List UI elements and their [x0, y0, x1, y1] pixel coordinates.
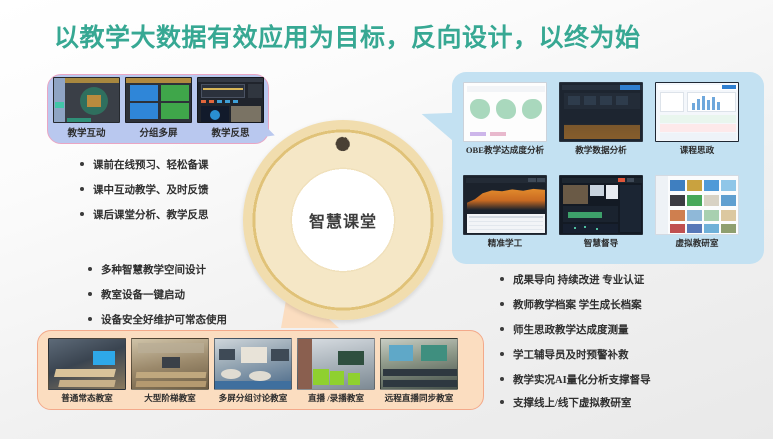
thumb-tile[interactable]: 教学数据分析 [559, 82, 643, 156]
thumb-tile[interactable]: OBE教学达成度分析 [463, 82, 547, 156]
classroom-photo [214, 338, 292, 390]
bullet-dot [80, 212, 84, 216]
thumb-caption: 精准学工 [488, 237, 522, 249]
bullet-text: 设备安全好维护可常态使用 [101, 312, 227, 327]
list-item: 课中互动教学、及时反馈 [80, 182, 209, 197]
thumb-tile[interactable]: 远程直播同步教室 [380, 338, 458, 404]
bullet-text: 学工辅导员及时预警补救 [513, 347, 629, 362]
list-item: 教学实况AI量化分析支撑督导 [500, 372, 651, 387]
thumb-caption: 智慧督导 [584, 237, 618, 249]
thumb-caption: 大型阶梯教室 [144, 392, 196, 404]
bullet-text: 支撑线上/线下虚拟教研室 [513, 395, 631, 410]
light-dashboard-screenshot [655, 82, 739, 142]
thumb-caption: 远程直播同步教室 [385, 392, 454, 404]
list-item: 课前在线预习、轻松备课 [80, 157, 209, 172]
classroom-photo [131, 338, 209, 390]
thumb-tile[interactable]: 大型阶梯教室 [131, 338, 209, 404]
thumb-tile[interactable]: 多屏分组讨论教室 [214, 338, 292, 404]
list-item: 课后课堂分析、教学反思 [80, 207, 209, 222]
bullet-dot [500, 377, 504, 381]
list-item: 设备安全好维护可常态使用 [88, 312, 227, 327]
bullet-text: 课后课堂分析、教学反思 [93, 207, 209, 222]
thumb-tile[interactable]: 分组多屏 [125, 77, 192, 139]
bullet-dot [500, 277, 504, 281]
thumb-tile[interactable]: 智慧督导 [559, 175, 643, 249]
supervision-screenshot [559, 175, 643, 235]
list-item: 教师教学档案 学生成长档案 [500, 297, 651, 312]
thumb-caption: 分组多屏 [139, 125, 177, 139]
bullet-text: 教室设备一键启动 [101, 287, 185, 302]
page-title: 以教学大数据有效应用为目标，反向设计，以终为始 [54, 18, 641, 54]
thumb-tile[interactable]: 课程思政 [655, 82, 739, 156]
bullet-dot [80, 187, 84, 191]
bullet-dot [500, 302, 504, 306]
bullet-dot [80, 162, 84, 166]
thumb-caption: 教学互动 [67, 125, 105, 139]
classroom-photo [380, 338, 458, 390]
bullet-text: 师生思政教学达成度测量 [513, 322, 629, 337]
thumb-tile[interactable]: 普通常态教室 [48, 338, 126, 404]
bullet-dot [88, 292, 92, 296]
dark-analytics-screenshot [559, 82, 643, 142]
reflection-dashboard-screenshot [197, 77, 264, 123]
bullet-dot [88, 267, 92, 271]
list-item: 支撑线上/线下虚拟教研室 [500, 395, 651, 410]
thumb-caption: 虚拟教研室 [676, 237, 719, 249]
thumb-caption: 直播 /录播教室 [308, 392, 364, 404]
bullet-dot [500, 400, 504, 404]
bullet-text: 课中互动教学、及时反馈 [93, 182, 209, 197]
bullet-dot [500, 327, 504, 331]
donut-core-label: 智慧课堂 [243, 208, 443, 232]
list-item: 师生思政教学达成度测量 [500, 322, 651, 337]
bullet-text: 教学实况AI量化分析支撑督导 [513, 372, 651, 387]
application-thumbnail-row-2: 精准学工 智慧督导 [463, 175, 739, 249]
interaction-bullet-list: 课前在线预习、轻松备课 课中互动教学、及时反馈 课后课堂分析、教学反思 [80, 157, 209, 232]
bullet-text: 成果导向 持续改进 专业认证 [513, 272, 644, 287]
thumb-tile[interactable]: 精准学工 [463, 175, 547, 249]
classroom-photo [48, 338, 126, 390]
mindmap-screenshot [53, 77, 120, 123]
space-bullet-list: 多种智慧教学空间设计 教室设备一键启动 设备安全好维护可常态使用 [88, 262, 227, 337]
bullet-text: 多种智慧教学空间设计 [101, 262, 206, 277]
center-donut-diagram: 智慧课堂 教学互动行为数据 教学数据深度应用 教学空间环境数据 [243, 120, 443, 320]
thumb-tile[interactable]: 直播 /录播教室 [297, 338, 375, 404]
list-item: 学工辅导员及时预警补救 [500, 347, 651, 362]
bullet-text: 课前在线预习、轻松备课 [93, 157, 209, 172]
thumb-tile[interactable]: 虚拟教研室 [655, 175, 739, 249]
application-thumbnail-row-1: OBE教学达成度分析 教学数据分析 [463, 82, 739, 156]
classroom-photo [297, 338, 375, 390]
radar-report-screenshot [463, 82, 547, 142]
list-item: 教室设备一键启动 [88, 287, 227, 302]
space-thumbnail-row: 普通常态教室 大型阶梯教室 多屏分组讨论教室 [48, 338, 458, 404]
thumb-caption: 课程思政 [680, 144, 714, 156]
thumb-caption: 多屏分组讨论教室 [219, 392, 288, 404]
thumb-tile[interactable]: 教学互动 [53, 77, 120, 139]
list-item: 多种智慧教学空间设计 [88, 262, 227, 277]
thumb-caption: 普通常态教室 [61, 392, 113, 404]
thumb-caption: 教学数据分析 [575, 144, 627, 156]
thumb-caption: OBE教学达成度分析 [466, 144, 544, 156]
bullet-dot [500, 352, 504, 356]
interaction-thumbnail-row: 教学互动 分组多屏 [53, 77, 264, 139]
area-chart-screenshot [463, 175, 547, 235]
list-item: 成果导向 持续改进 专业认证 [500, 272, 651, 287]
slide-canvas: 以教学大数据有效应用为目标，反向设计，以终为始 教学互动 [0, 0, 773, 439]
video-grid-screenshot [655, 175, 739, 235]
bullet-text: 教师教学档案 学生成长档案 [513, 297, 642, 312]
application-bullet-list: 成果导向 持续改进 专业认证 教师教学档案 学生成长档案 师生思政教学达成度测量… [500, 272, 651, 420]
bullet-dot [88, 317, 92, 321]
group-multiscreen-screenshot [125, 77, 192, 123]
